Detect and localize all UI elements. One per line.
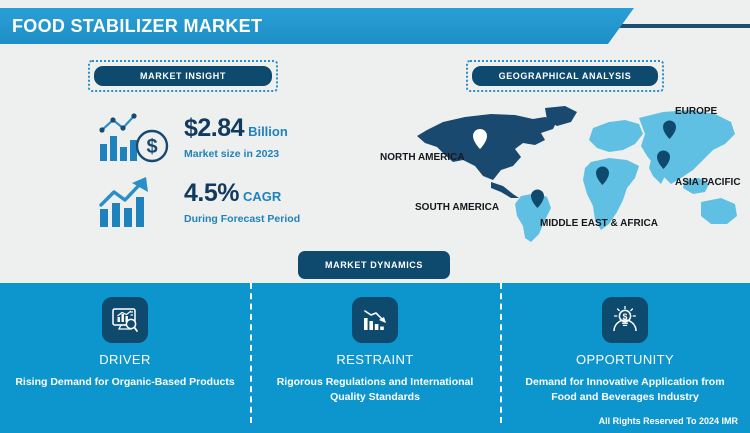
stat-market-size: $ $2.84Billion Market size in 2023 <box>96 110 288 166</box>
stat-market-size-value: $2.84 <box>184 114 244 142</box>
footer-copyright: All Rights Reserved To 2024 IMR <box>599 416 738 426</box>
map-label-south-america: SOUTH AMERICA <box>415 202 499 213</box>
market-dynamics-badge: MARKET DYNAMICS <box>298 251 450 279</box>
panel-restraint: RESTRAINT Rigorous Regulations and Inter… <box>250 283 500 433</box>
panel-driver-description: Rising Demand for Organic-Based Products <box>3 375 246 390</box>
map-region-australia <box>701 198 737 224</box>
map-label-asia-pacific: ASIA PACIFIC <box>675 177 741 188</box>
stat-cagr-unit: CAGR <box>243 189 281 204</box>
monitor-analysis-icon <box>102 297 148 343</box>
geographical-analysis-badge: GEOGRAPHICAL ANALYSIS <box>466 60 664 92</box>
bar-chart-dollar-icon: $ <box>96 110 174 166</box>
panel-opportunity-title: OPPORTUNITY <box>576 352 674 367</box>
map-region-europe <box>589 120 643 152</box>
stat-market-size-subtitle: Market size in 2023 <box>184 148 288 160</box>
market-insight-badge-label: MARKET INSIGHT <box>94 66 272 86</box>
stat-cagr: 4.5%CAGR During Forecast Period <box>96 175 300 231</box>
geographical-analysis-badge-label: GEOGRAPHICAL ANALYSIS <box>472 66 658 86</box>
world-map: NORTH AMERICA SOUTH AMERICA EUROPE ASIA … <box>395 100 750 245</box>
market-insight-badge: MARKET INSIGHT <box>88 60 278 92</box>
map-label-europe: EUROPE <box>675 106 717 117</box>
panel-opportunity: $ OPPORTUNITY Demand for Innovative Appl… <box>500 283 750 433</box>
stat-cagr-head: 4.5%CAGR <box>184 181 300 206</box>
header: FOOD STABILIZER MARKET <box>0 8 750 44</box>
market-dynamics-badge-label: MARKET DYNAMICS <box>298 251 450 279</box>
panel-restraint-title: RESTRAINT <box>336 352 413 367</box>
stat-cagr-text: 4.5%CAGR During Forecast Period <box>184 181 300 225</box>
growth-arrow-icon <box>96 175 174 231</box>
panel-driver-title: DRIVER <box>99 352 151 367</box>
map-label-middle-east-africa: MIDDLE EAST & AFRICA <box>540 218 658 229</box>
declining-chart-icon <box>352 297 398 343</box>
map-region-central-america <box>491 182 519 198</box>
infographic-page: FOOD STABILIZER MARKET MARKET INSIGHT $ … <box>0 0 750 433</box>
stat-cagr-value: 4.5% <box>184 179 239 207</box>
panel-restraint-description: Rigorous Regulations and International Q… <box>250 375 500 405</box>
page-title: FOOD STABILIZER MARKET <box>12 16 262 37</box>
panel-opportunity-description: Demand for Innovative Application from F… <box>500 375 750 405</box>
map-region-north-america <box>417 114 557 180</box>
stat-market-size-unit: Billion <box>248 124 288 139</box>
stat-cagr-subtitle: During Forecast Period <box>184 213 300 225</box>
svg-text:$: $ <box>146 136 157 158</box>
lightbulb-dollar-icon: $ <box>602 297 648 343</box>
stat-market-size-text: $2.84Billion Market size in 2023 <box>184 116 288 160</box>
stat-market-size-head: $2.84Billion <box>184 116 288 141</box>
panel-driver: DRIVER Rising Demand for Organic-Based P… <box>0 283 250 433</box>
map-label-north-america: NORTH AMERICA <box>380 152 465 163</box>
